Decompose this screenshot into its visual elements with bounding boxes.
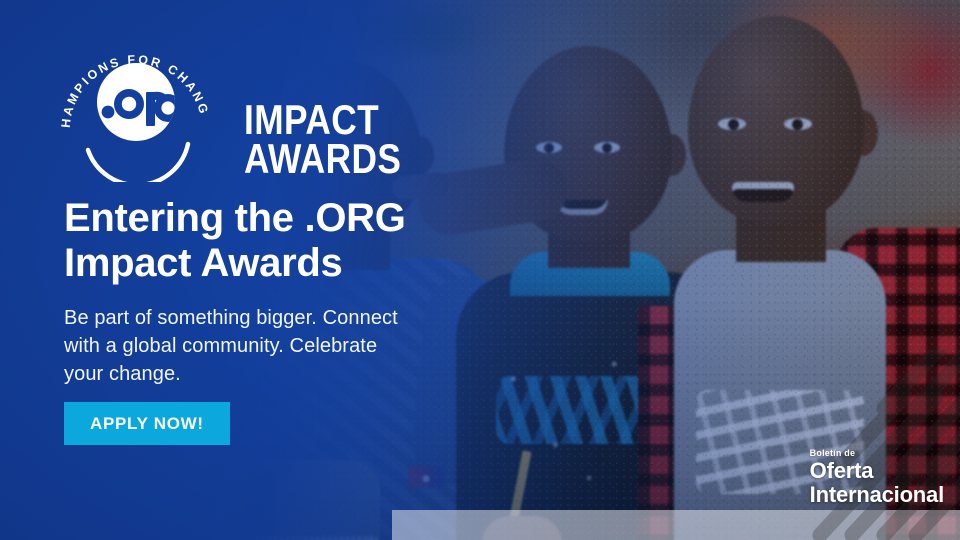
subhead-line-2: with a global community. Celebrate [64,332,484,360]
smile-arc-icon [88,144,188,182]
apply-now-button[interactable]: APPLY NOW! [64,402,230,445]
subhead-line-3: your change. [64,360,484,388]
child-center-pupil-left [544,143,554,153]
org-badge-icon: CHAMPIONS FOR CHANGE [58,34,210,182]
impact-awards-banner: CHAMPIONS FOR CHANGE [0,0,960,540]
child-right-tshirt-print [696,390,864,494]
impact-awards-logo: CHAMPIONS FOR CHANGE [58,34,358,182]
copy-block: Entering the .ORG Impact Awards Be part … [64,196,484,389]
child-right-pupil-right [792,119,803,130]
child-center-pupil-right [602,143,612,153]
subhead-line-1: Be part of something bigger. Connect [64,304,484,332]
child-right-pupil-left [728,119,739,130]
child-left-backpack-strap [236,466,276,540]
child-right-mouth [732,182,794,202]
headline-line-1: Entering the .ORG [64,196,484,241]
child-left-logo-patch [408,466,444,488]
wordmark-line-awards: AWARDS [244,139,401,178]
child-left-backpack-zipper [250,536,378,540]
child-left-backpack [204,460,380,540]
impact-awards-wordmark: IMPACT AWARDS [244,100,401,179]
page-title: Entering the .ORG Impact Awards [64,196,484,286]
subheadline: Be part of something bigger. Connect wit… [64,304,484,389]
photo-child-right [640,6,960,540]
wordmark-line-impact: IMPACT [244,100,401,139]
headline-line-2: Impact Awards [64,241,484,286]
